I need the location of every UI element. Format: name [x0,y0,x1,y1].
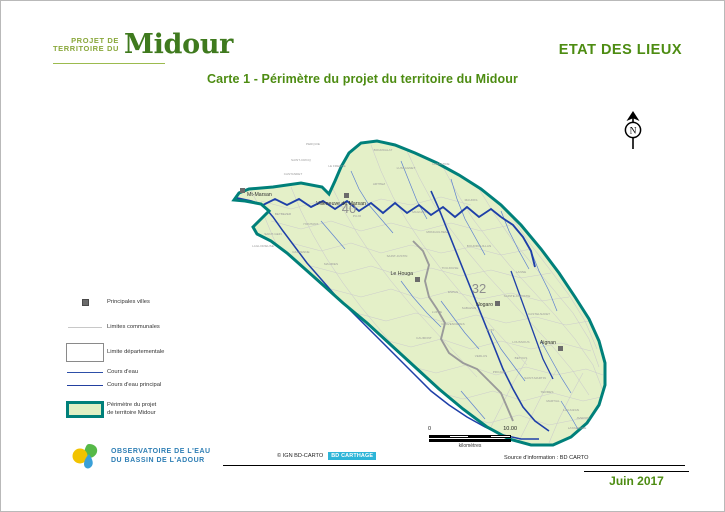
svg-text:SAINT-GEIN: SAINT-GEIN [264,232,282,236]
legend-label-river-main: Cours d'eau principal [107,382,161,390]
legend-label-perimeter: Périmètre du projet de territoire Midour [107,402,156,418]
svg-text:SAINTE-CHRISTIE: SAINTE-CHRISTIE [504,294,531,298]
svg-text:SION: SION [486,328,494,332]
scale-bar-graphic [429,435,511,442]
city-marker [240,188,245,193]
perimeter-rect-icon [63,401,107,418]
legend-label-perimeter-line1: Périmètre du projet [107,402,156,408]
observatory-logo-text: OBSERVATOIRE DE L'EAU DU BASSIN DE L'ADO… [111,448,211,466]
svg-text:SAINT-JUSTIN: SAINT-JUSTIN [387,254,408,258]
river-main-line-icon [63,385,107,386]
section-label: ETAT DES LIEUX [559,42,682,58]
ign-credit: © IGN BD-CARTO [277,453,323,459]
legend-item-river: Cours d'eau [63,369,138,377]
legend-label-perimeter-line2: de territoire Midour [107,410,156,416]
scale-bar-max: 10.00 [503,426,517,432]
svg-text:MAUPAS: MAUPAS [465,198,478,202]
svg-text:SAINT-CRICQ: SAINT-CRICQ [291,158,312,162]
svg-text:ARTHEZ: ARTHEZ [373,182,385,186]
brand-tagline: PROJET DE TERRITOIRE DU [53,37,119,58]
svg-text:SAINT-MARTIN: SAINT-MARTIN [524,376,546,380]
svg-text:LABASTIDE: LABASTIDE [432,162,449,166]
brand-logo: PROJET DE TERRITOIRE DU Midour [53,31,233,58]
department-label-32: 32 [472,281,486,296]
svg-text:CASTELNAVET: CASTELNAVET [528,312,550,316]
svg-text:MAGNAN: MAGNAN [412,210,426,214]
svg-text:LAGLORIEUSE: LAGLORIEUSE [252,244,274,248]
svg-text:PROJAN: PROJAN [493,370,506,374]
svg-text:CAUPENNE: CAUPENNE [292,250,309,254]
brand-underline [53,63,165,64]
city-marker [495,301,500,306]
svg-text:CRAVENCERES: CRAVENCERES [441,322,464,326]
svg-text:BOURROUILLAN: BOURROUILLAN [467,244,491,248]
map-svg[interactable]: 40 32 Mt-Marsan Villeneuve de Marsan Le … [201,101,661,456]
svg-text:PUJO: PUJO [353,214,362,218]
brand-tagline-line2: TERRITOIRE DU [53,45,119,53]
page-title: Carte 1 - Périmètre du projet du territo… [1,72,724,86]
credit-divider [223,465,685,466]
legend-item-cities: Principales villes [63,299,150,307]
department-rect-icon [63,343,107,362]
svg-text:MONGUILHEM: MONGUILHEM [426,230,448,234]
city-marker [558,346,563,351]
source-credit: Source d'information : BD CARTO [504,455,589,461]
city-square-icon [63,299,107,306]
svg-text:LASSERADE: LASSERADE [568,426,587,430]
observatory-logo-line1: OBSERVATOIRE DE L'EAU [111,448,211,457]
observatory-logo: OBSERVATOIRE DE L'EAU DU BASSIN DE L'ADO… [67,441,211,473]
water-drop-leaf-icon [67,441,107,473]
legend-label-cities: Principales villes [107,299,150,307]
scale-bar: 0 10.00 kilomètres [429,426,511,449]
svg-text:LAUJUZAN: LAUJUZAN [563,408,579,412]
svg-text:ESPAS: ESPAS [448,290,458,294]
footer-divider [584,471,689,472]
commune-line-icon [63,327,107,328]
map-graphic[interactable]: 40 32 Mt-Marsan Villeneuve de Marsan Le … [201,101,661,456]
scale-bar-numbers: 0 10.00 [429,426,511,435]
legend-label-department: Limite départementale [107,349,164,357]
svg-text:TOUJOUSE: TOUJOUSE [442,266,459,270]
svg-text:PERQUIE: PERQUIE [306,142,320,146]
city-label: Mt-Marsan [247,192,272,198]
scale-bar-min: 0 [428,426,431,432]
svg-text:LANNE: LANNE [516,270,526,274]
svg-text:LUPPE: LUPPE [432,310,442,314]
carthage-badge: BD CARTHAGE [328,452,376,460]
legend-label-communes: Limites communales [107,324,160,332]
city-label: Villeneuve de Marsan [316,201,366,207]
city-label: Le Houga [391,271,414,277]
publication-date: Juin 2017 [584,474,689,488]
ign-credit-text: © IGN BD-CARTO [277,453,323,459]
observatory-logo-line2: DU BASSIN DE L'ADOUR [111,457,211,466]
svg-text:BETBEZER: BETBEZER [275,212,292,216]
city-marker [344,193,349,198]
svg-text:LE FRECHE: LE FRECHE [328,164,345,168]
river-line-icon [63,372,107,373]
svg-text:MARTIAL: MARTIAL [546,399,560,403]
svg-text:MAURIES: MAURIES [324,262,338,266]
data-credits: © IGN BD-CARTO BD CARTHAGE [277,452,376,460]
city-label: Aignan [540,340,556,346]
legend-label-river: Cours d'eau [107,369,138,377]
svg-text:BOURDALAT: BOURDALAT [374,148,393,152]
svg-text:HONTANX: HONTANX [304,222,319,226]
svg-text:LUSSAGNET: LUSSAGNET [397,166,416,170]
svg-text:CASTANDET: CASTANDET [284,172,303,176]
brand-wordmark: Midour [124,31,233,58]
svg-text:TERMES: TERMES [541,390,554,394]
svg-text:BETOUS: BETOUS [515,356,528,360]
svg-text:SABAZAN: SABAZAN [462,306,476,310]
legend-item-communes: Limites communales [63,324,160,332]
scale-bar-units: kilomètres [429,443,511,449]
city-marker [415,277,420,282]
legend-item-river-main: Cours d'eau principal [63,382,161,390]
legend-item-department: Limite départementale [63,343,164,362]
svg-text:VERLUS: VERLUS [475,354,487,358]
svg-text:CAUMONT: CAUMONT [416,336,432,340]
legend-item-perimeter: Périmètre du projet de territoire Midour [63,401,156,418]
map-poster-page: PROJET DE TERRITOIRE DU Midour ETAT DES … [0,0,725,512]
city-label: Nogaro [476,302,493,308]
svg-text:LOUSSOUS: LOUSSOUS [512,340,529,344]
svg-text:AVERON: AVERON [577,416,590,420]
